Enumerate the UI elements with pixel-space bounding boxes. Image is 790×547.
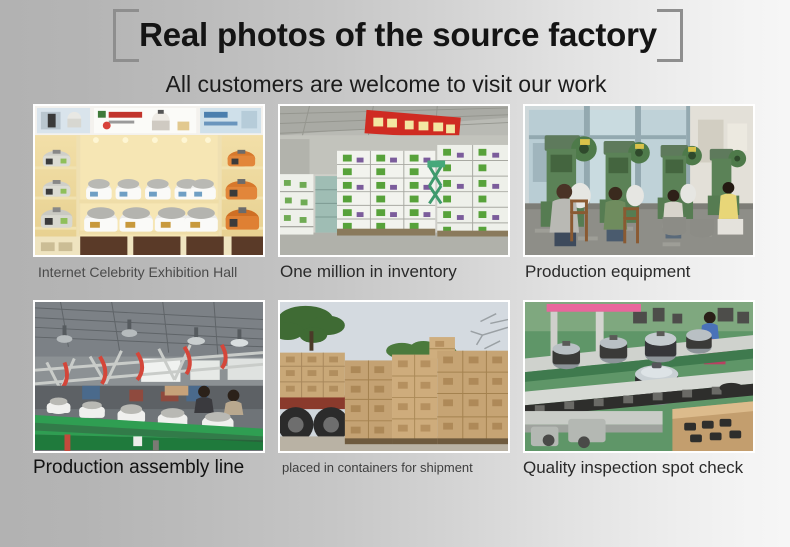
frame-edge-left xyxy=(113,9,116,62)
caption-text: Production equipment xyxy=(525,259,690,285)
gallery-row: Production assembly line xyxy=(33,300,755,483)
caption-text: Production assembly line xyxy=(33,455,244,481)
photo-caption: Internet Celebrity Exhibition Hall xyxy=(33,257,265,287)
frame-corner-top-left xyxy=(113,9,139,12)
photo-shipment-containers[interactable] xyxy=(278,300,510,453)
frame-corner-bottom-left xyxy=(113,59,139,62)
photo-exhibition-hall[interactable] xyxy=(33,104,265,257)
photo-caption: Production assembly line xyxy=(33,453,265,483)
gallery-cell[interactable]: One million in inventory xyxy=(278,104,510,287)
photo-caption: Production equipment xyxy=(523,257,755,287)
page-header: Real photos of the source factory All cu… xyxy=(0,0,790,98)
photo-caption: One million in inventory xyxy=(278,257,510,287)
frame-corner-bottom-right xyxy=(657,59,683,62)
gallery-cell[interactable]: Quality inspection spot check xyxy=(523,300,755,483)
page-subtitle: All customers are welcome to visit our w… xyxy=(0,70,790,98)
photo-caption: placed in containers for shipment xyxy=(278,453,510,483)
caption-text: placed in containers for shipment xyxy=(282,455,473,481)
caption-text: Quality inspection spot check xyxy=(523,455,743,481)
gallery-cell[interactable]: placed in containers for shipment xyxy=(278,300,510,483)
title-bracket-frame: Real photos of the source factory xyxy=(113,9,683,62)
photo-assembly-line[interactable] xyxy=(33,300,265,453)
page-title: Real photos of the source factory xyxy=(139,13,657,57)
caption-text: One million in inventory xyxy=(280,259,457,285)
caption-text: Internet Celebrity Exhibition Hall xyxy=(38,259,237,285)
photo-inventory-warehouse[interactable] xyxy=(278,104,510,257)
photo-production-equipment[interactable] xyxy=(523,104,755,257)
frame-edge-right xyxy=(680,9,683,62)
frame-corner-top-right xyxy=(657,9,683,12)
gallery-row: Internet Celebrity Exhibition Hall xyxy=(33,104,755,287)
gallery-cell[interactable]: Internet Celebrity Exhibition Hall xyxy=(33,104,265,287)
photo-caption: Quality inspection spot check xyxy=(523,453,755,483)
gallery-cell[interactable]: Production assembly line xyxy=(33,300,265,483)
photo-quality-inspection[interactable] xyxy=(523,300,755,453)
gallery-cell[interactable]: Production equipment xyxy=(523,104,755,287)
photo-gallery: Internet Celebrity Exhibition Hall xyxy=(33,104,755,483)
